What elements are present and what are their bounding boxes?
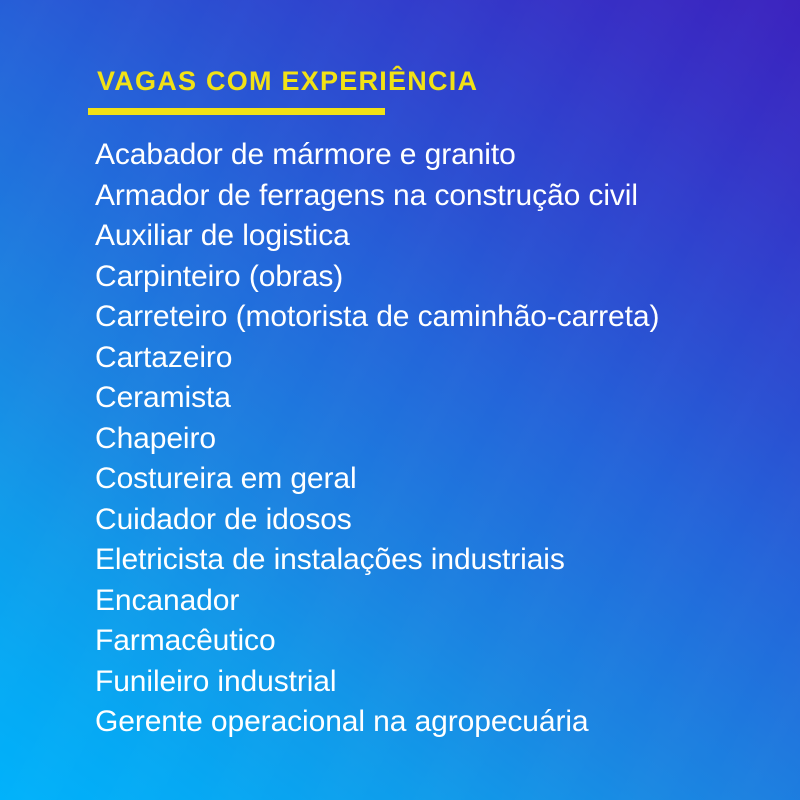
list-item: Carpinteiro (obras): [95, 257, 785, 298]
list-item: Auxiliar de logistica: [95, 216, 785, 257]
list-item: Funileiro industrial: [95, 662, 785, 703]
page-title: VAGAS COM EXPERIÊNCIA: [88, 64, 748, 98]
list-item: Carreteiro (motorista de caminhão-carret…: [95, 297, 785, 338]
list-item: Acabador de mármore e granito: [95, 135, 785, 176]
list-item: Cartazeiro: [95, 338, 785, 379]
list-item: Farmacêutico: [95, 621, 785, 662]
list-item: Eletricista de instalações industriais: [95, 540, 785, 581]
job-list: Acabador de mármore e granito Armador de…: [95, 135, 785, 743]
title-underline-rule: [88, 108, 385, 115]
list-item: Gerente operacional na agropecuária: [95, 702, 785, 743]
job-vacancy-poster: VAGAS COM EXPERIÊNCIA Acabador de mármor…: [0, 0, 800, 800]
list-item: Costureira em geral: [95, 459, 785, 500]
heading-block: VAGAS COM EXPERIÊNCIA: [88, 64, 748, 115]
list-item: Ceramista: [95, 378, 785, 419]
list-item: Cuidador de idosos: [95, 500, 785, 541]
list-item: Armador de ferragens na construção civil: [95, 176, 785, 217]
list-item: Encanador: [95, 581, 785, 622]
list-item: Chapeiro: [95, 419, 785, 460]
